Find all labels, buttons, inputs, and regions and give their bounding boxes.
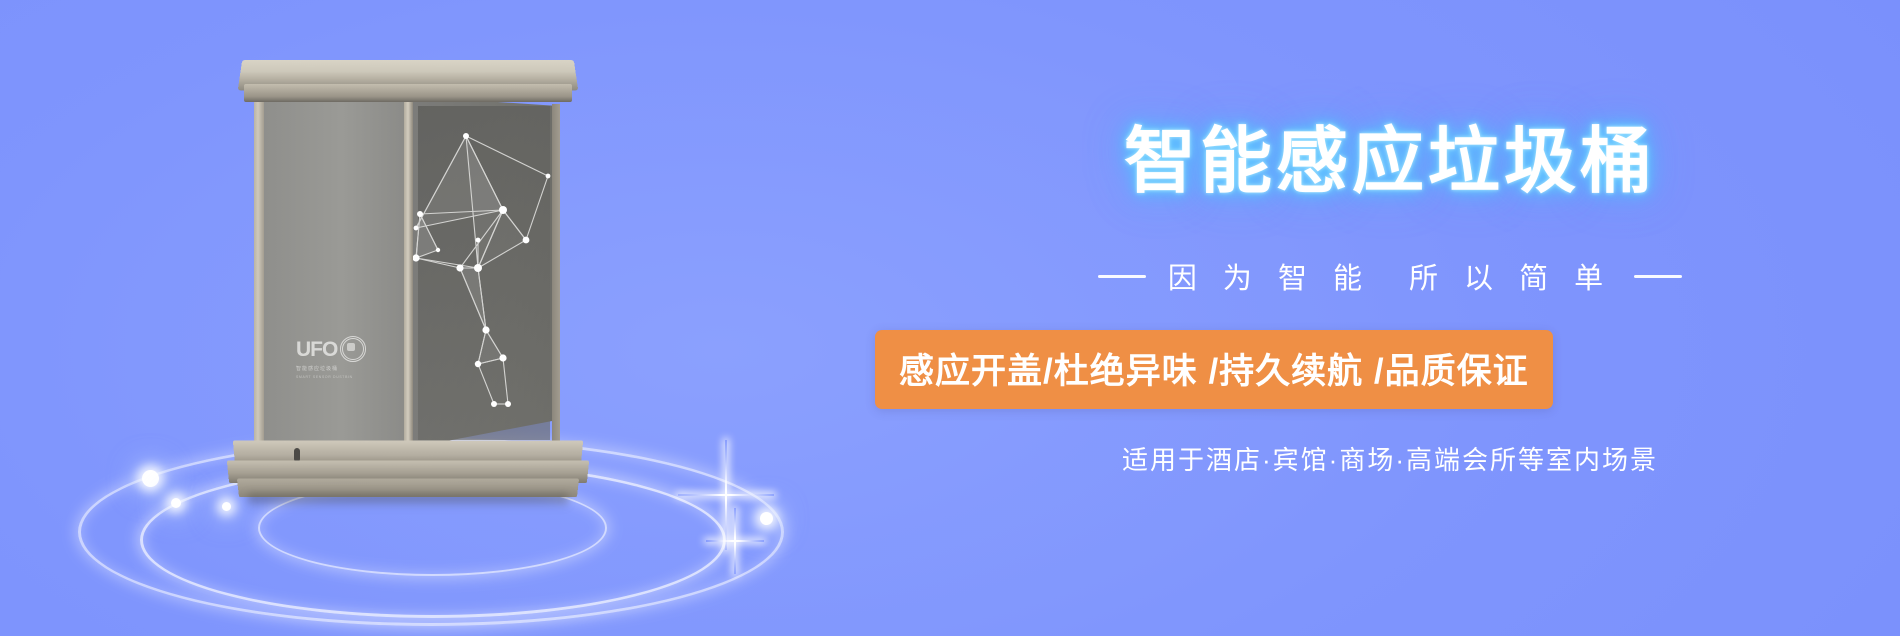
polygon-network-graphic <box>408 118 558 438</box>
subline-text: 因 为 智 能 所 以 简 单 <box>1168 255 1612 297</box>
logo-mark: UFO <box>296 336 384 362</box>
subline-rule-right <box>1634 275 1682 278</box>
subline-rule-left <box>1098 275 1146 278</box>
trash-bin-illustration: UFO 智能感应垃圾桶 SMART SENSOR DUSTBIN <box>258 58 558 478</box>
promo-banner: UFO 智能感应垃圾桶 SMART SENSOR DUSTBIN 智能感应垃圾桶… <box>0 0 1900 636</box>
glow-dot-icon <box>222 502 231 511</box>
bin-edge-left <box>254 98 264 450</box>
banner-copy: 智能感应垃圾桶 因 为 智 能 所 以 简 单 感应开盖/杜绝异味 /持久续航 … <box>880 0 1900 636</box>
logo-cn-tagline: 智能感应垃圾桶 <box>296 365 384 372</box>
logo-en-tagline: SMART SENSOR DUSTBIN <box>296 375 384 379</box>
feature-chip: 感应开盖/杜绝异味 /持久续航 /品质保证 <box>875 330 1553 409</box>
logo-wordmark: UFO <box>296 339 337 360</box>
subline: 因 为 智 能 所 以 简 单 <box>880 255 1900 297</box>
headline: 智能感应垃圾桶 <box>880 126 1900 198</box>
product-visual: UFO 智能感应垃圾桶 SMART SENSOR DUSTBIN <box>0 0 900 636</box>
bin-edge-right <box>552 104 560 448</box>
glow-dot-icon <box>760 512 773 525</box>
feature-chip-text: 感应开盖/杜绝异味 /持久续航 /品质保证 <box>899 352 1529 391</box>
bin-edge-center <box>404 94 413 450</box>
bin-base-shadow <box>248 494 568 508</box>
bin-brand-logo: UFO 智能感应垃圾桶 SMART SENSOR DUSTBIN <box>296 336 384 398</box>
bin-lid-rim <box>244 84 572 102</box>
scene-note: 适用于酒店·宾馆·商场·高端会所等室内场景 <box>880 440 1900 477</box>
glow-dot-icon <box>142 470 159 487</box>
glow-dot-icon <box>171 498 181 508</box>
logo-ring-icon <box>340 336 366 362</box>
